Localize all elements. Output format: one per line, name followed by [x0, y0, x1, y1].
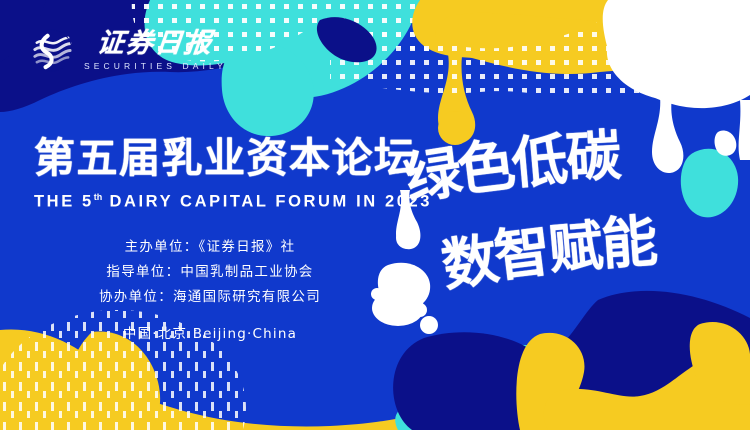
title-en-pre: THE 5: [34, 193, 94, 211]
title-block: 第五届乳业资本论坛 THE 5th DAIRY CAPITAL FORUM IN…: [34, 138, 432, 212]
forum-title-english: THE 5th DAIRY CAPITAL FORUM IN 2023: [34, 192, 432, 212]
title-en-post: DAIRY CAPITAL FORUM IN 2023: [102, 193, 432, 211]
organizer-host: 主办单位：《证券日报》社: [0, 235, 420, 260]
globe-swirl-logo-icon: [28, 27, 75, 74]
organizer-coorganizer: 协办单位：海通国际研究有限公司: [0, 285, 420, 310]
event-location: 中国·北京 Beijing·China: [0, 322, 420, 342]
organizer-list: 主办单位：《证券日报》社 指导单位：中国乳制品工业协会 协办单位：海通国际研究有…: [0, 235, 420, 310]
conference-poster: 证券日报 SECURITIES DAILY 第五届乳业资本论坛 THE 5th …: [0, 0, 750, 430]
logo-chinese-name: 证券日报: [96, 30, 215, 57]
title-en-ordinal: th: [94, 192, 103, 202]
securities-daily-logo[interactable]: 证券日报 SECURITIES DAILY: [28, 27, 227, 74]
logo-english-name: SECURITIES DAILY: [84, 62, 227, 71]
forum-title-chinese: 第五届乳业资本论坛: [34, 138, 432, 179]
organizer-guidance: 指导单位：中国乳制品工业协会: [0, 260, 420, 285]
